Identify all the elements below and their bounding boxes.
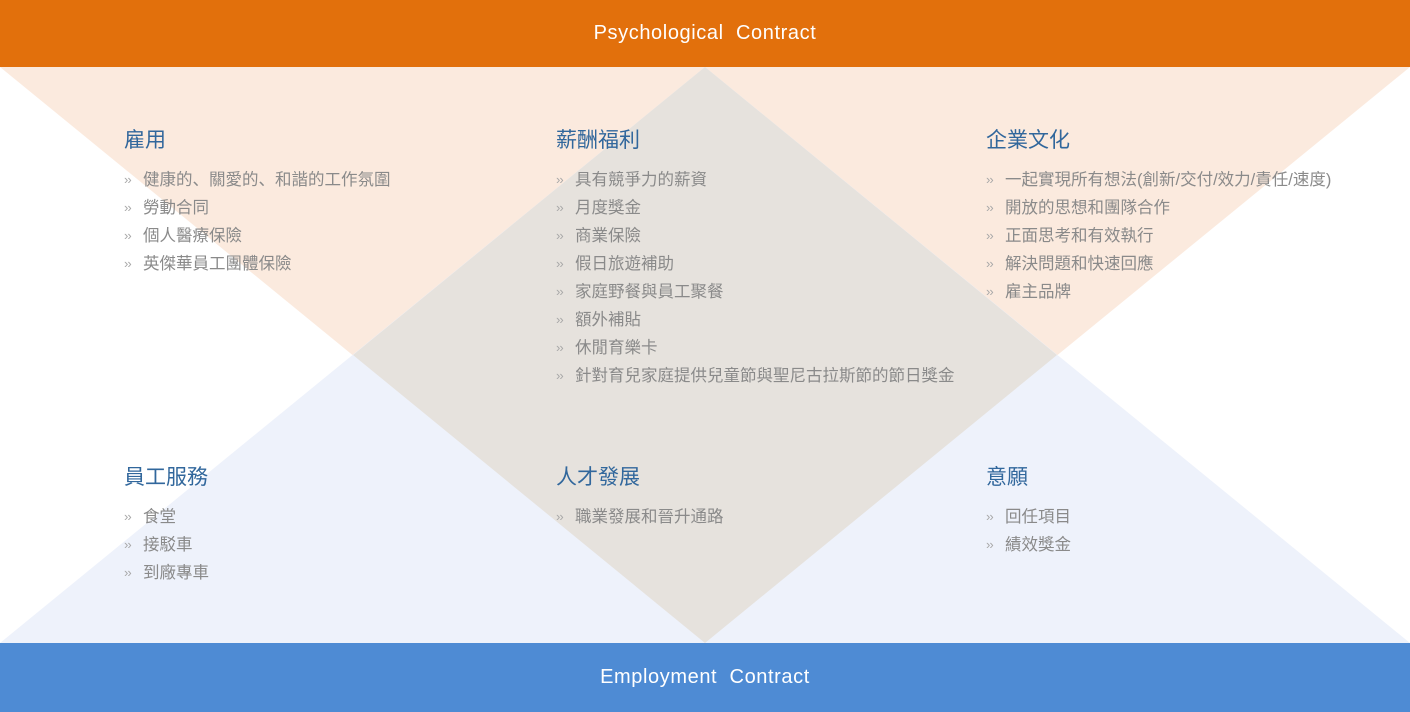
list-item: ››勞動合同 bbox=[124, 194, 524, 222]
double-chevron-icon: ›› bbox=[124, 222, 131, 250]
panel-list-aspiration: ››回任項目 ››績效獎金 bbox=[986, 503, 1386, 559]
double-chevron-icon: ›› bbox=[124, 559, 131, 587]
double-chevron-icon: ›› bbox=[986, 531, 993, 559]
header-bar: Psychological Contract bbox=[0, 0, 1410, 67]
list-item: ››個人醫療保險 bbox=[124, 222, 524, 250]
list-item: ››解決問題和快速回應 bbox=[986, 250, 1396, 278]
panel-corporate-culture: 企業文化 ››一起實現所有想法(創新/交付/效力/責任/速度) ››開放的思想和… bbox=[986, 128, 1396, 306]
double-chevron-icon: ›› bbox=[986, 194, 993, 222]
panel-list-employment: ››健康的、關愛的、和諧的工作氛圍 ››勞動合同 ››個人醫療保險 ››英傑華員… bbox=[124, 166, 524, 278]
list-item: ››接駁車 bbox=[124, 531, 524, 559]
list-item: ››一起實現所有想法(創新/交付/效力/責任/速度) bbox=[986, 166, 1396, 194]
list-item: ››健康的、關愛的、和諧的工作氛圍 bbox=[124, 166, 524, 194]
panel-title-talent-development: 人才發展 bbox=[556, 465, 956, 491]
double-chevron-icon: ›› bbox=[124, 531, 131, 559]
panel-talent-development: 人才發展 ››職業發展和晉升通路 bbox=[556, 465, 956, 531]
double-chevron-icon: ›› bbox=[556, 222, 563, 250]
double-chevron-icon: ›› bbox=[556, 362, 563, 390]
list-item-label: 個人醫療保險 bbox=[143, 227, 242, 245]
list-item: ››商業保險 bbox=[556, 222, 956, 250]
list-item-label: 額外補貼 bbox=[575, 311, 641, 329]
panel-list-compensation-benefits: ››具有競爭力的薪資 ››月度獎金 ››商業保險 ››假日旅遊補助 ››家庭野餐… bbox=[556, 166, 956, 390]
psychological-contract-infographic: Psychological Contract 雇用 ››健康的、關愛的、和諧的工… bbox=[0, 0, 1410, 712]
list-item: ››休閒育樂卡 bbox=[556, 334, 956, 362]
list-item: ››食堂 bbox=[124, 503, 524, 531]
list-item-label: 職業發展和晉升通路 bbox=[575, 508, 724, 526]
list-item-label: 休閒育樂卡 bbox=[575, 339, 658, 357]
list-item: ››開放的思想和團隊合作 bbox=[986, 194, 1396, 222]
list-item-label: 假日旅遊補助 bbox=[575, 255, 674, 273]
double-chevron-icon: ›› bbox=[124, 194, 131, 222]
list-item: ››假日旅遊補助 bbox=[556, 250, 956, 278]
panel-employment: 雇用 ››健康的、關愛的、和諧的工作氛圍 ››勞動合同 ››個人醫療保險 ››英… bbox=[124, 128, 524, 278]
list-item-label: 一起實現所有想法(創新/交付/效力/責任/速度) bbox=[1005, 171, 1331, 189]
panel-list-employee-services: ››食堂 ››接駁車 ››到廠專車 bbox=[124, 503, 524, 587]
list-item: ››針對育兒家庭提供兒童節與聖尼古拉斯節的節日獎金 bbox=[556, 362, 956, 390]
double-chevron-icon: ›› bbox=[986, 503, 993, 531]
panel-title-employee-services: 員工服務 bbox=[124, 465, 524, 491]
panel-title-corporate-culture: 企業文化 bbox=[986, 128, 1396, 154]
double-chevron-icon: ›› bbox=[556, 306, 563, 334]
list-item-label: 商業保險 bbox=[575, 227, 641, 245]
content-grid: 雇用 ››健康的、關愛的、和諧的工作氛圍 ››勞動合同 ››個人醫療保險 ››英… bbox=[0, 67, 1410, 643]
header-title: Psychological Contract bbox=[594, 22, 817, 45]
list-item-label: 英傑華員工團體保險 bbox=[143, 255, 292, 273]
footer-bar: Employment Contract bbox=[0, 643, 1410, 712]
panel-compensation-benefits: 薪酬福利 ››具有競爭力的薪資 ››月度獎金 ››商業保險 ››假日旅遊補助 ›… bbox=[556, 128, 956, 390]
list-item: ››回任項目 bbox=[986, 503, 1386, 531]
list-item-label: 具有競爭力的薪資 bbox=[575, 171, 707, 189]
list-item: ››月度獎金 bbox=[556, 194, 956, 222]
panel-list-talent-development: ››職業發展和晉升通路 bbox=[556, 503, 956, 531]
double-chevron-icon: ›› bbox=[986, 278, 993, 306]
list-item-label: 針對育兒家庭提供兒童節與聖尼古拉斯節的節日獎金 bbox=[575, 367, 955, 385]
panel-employee-services: 員工服務 ››食堂 ››接駁車 ››到廠專車 bbox=[124, 465, 524, 587]
double-chevron-icon: ›› bbox=[986, 250, 993, 278]
panel-title-compensation-benefits: 薪酬福利 bbox=[556, 128, 956, 154]
double-chevron-icon: ›› bbox=[124, 503, 131, 531]
list-item: ››英傑華員工團體保險 bbox=[124, 250, 524, 278]
list-item-label: 正面思考和有效執行 bbox=[1005, 227, 1154, 245]
double-chevron-icon: ›› bbox=[124, 166, 131, 194]
list-item-label: 勞動合同 bbox=[143, 199, 209, 217]
list-item: ››到廠專車 bbox=[124, 559, 524, 587]
footer-title: Employment Contract bbox=[600, 666, 810, 689]
double-chevron-icon: ›› bbox=[124, 250, 131, 278]
list-item-label: 開放的思想和團隊合作 bbox=[1005, 199, 1170, 217]
panel-list-corporate-culture: ››一起實現所有想法(創新/交付/效力/責任/速度) ››開放的思想和團隊合作 … bbox=[986, 166, 1396, 306]
list-item-label: 回任項目 bbox=[1005, 508, 1071, 526]
list-item: ››具有競爭力的薪資 bbox=[556, 166, 956, 194]
double-chevron-icon: ›› bbox=[556, 166, 563, 194]
list-item: ››正面思考和有效執行 bbox=[986, 222, 1396, 250]
double-chevron-icon: ›› bbox=[556, 278, 563, 306]
list-item-label: 績效獎金 bbox=[1005, 536, 1071, 554]
list-item-label: 接駁車 bbox=[143, 536, 193, 554]
list-item-label: 食堂 bbox=[143, 508, 176, 526]
list-item: ››雇主品牌 bbox=[986, 278, 1396, 306]
panel-title-employment: 雇用 bbox=[124, 128, 524, 154]
list-item: ››績效獎金 bbox=[986, 531, 1386, 559]
double-chevron-icon: ›› bbox=[556, 250, 563, 278]
list-item-label: 到廠專車 bbox=[143, 564, 209, 582]
list-item-label: 雇主品牌 bbox=[1005, 283, 1071, 301]
list-item-label: 健康的、關愛的、和諧的工作氛圍 bbox=[143, 171, 391, 189]
panel-title-aspiration: 意願 bbox=[986, 465, 1386, 491]
list-item: ››家庭野餐與員工聚餐 bbox=[556, 278, 956, 306]
double-chevron-icon: ›› bbox=[556, 194, 563, 222]
double-chevron-icon: ›› bbox=[986, 166, 993, 194]
double-chevron-icon: ›› bbox=[986, 222, 993, 250]
double-chevron-icon: ›› bbox=[556, 334, 563, 362]
double-chevron-icon: ›› bbox=[556, 503, 563, 531]
list-item-label: 月度獎金 bbox=[575, 199, 641, 217]
list-item-label: 家庭野餐與員工聚餐 bbox=[575, 283, 724, 301]
panel-aspiration: 意願 ››回任項目 ››績效獎金 bbox=[986, 465, 1386, 559]
list-item-label: 解決問題和快速回應 bbox=[1005, 255, 1154, 273]
list-item: ››職業發展和晉升通路 bbox=[556, 503, 956, 531]
list-item: ››額外補貼 bbox=[556, 306, 956, 334]
